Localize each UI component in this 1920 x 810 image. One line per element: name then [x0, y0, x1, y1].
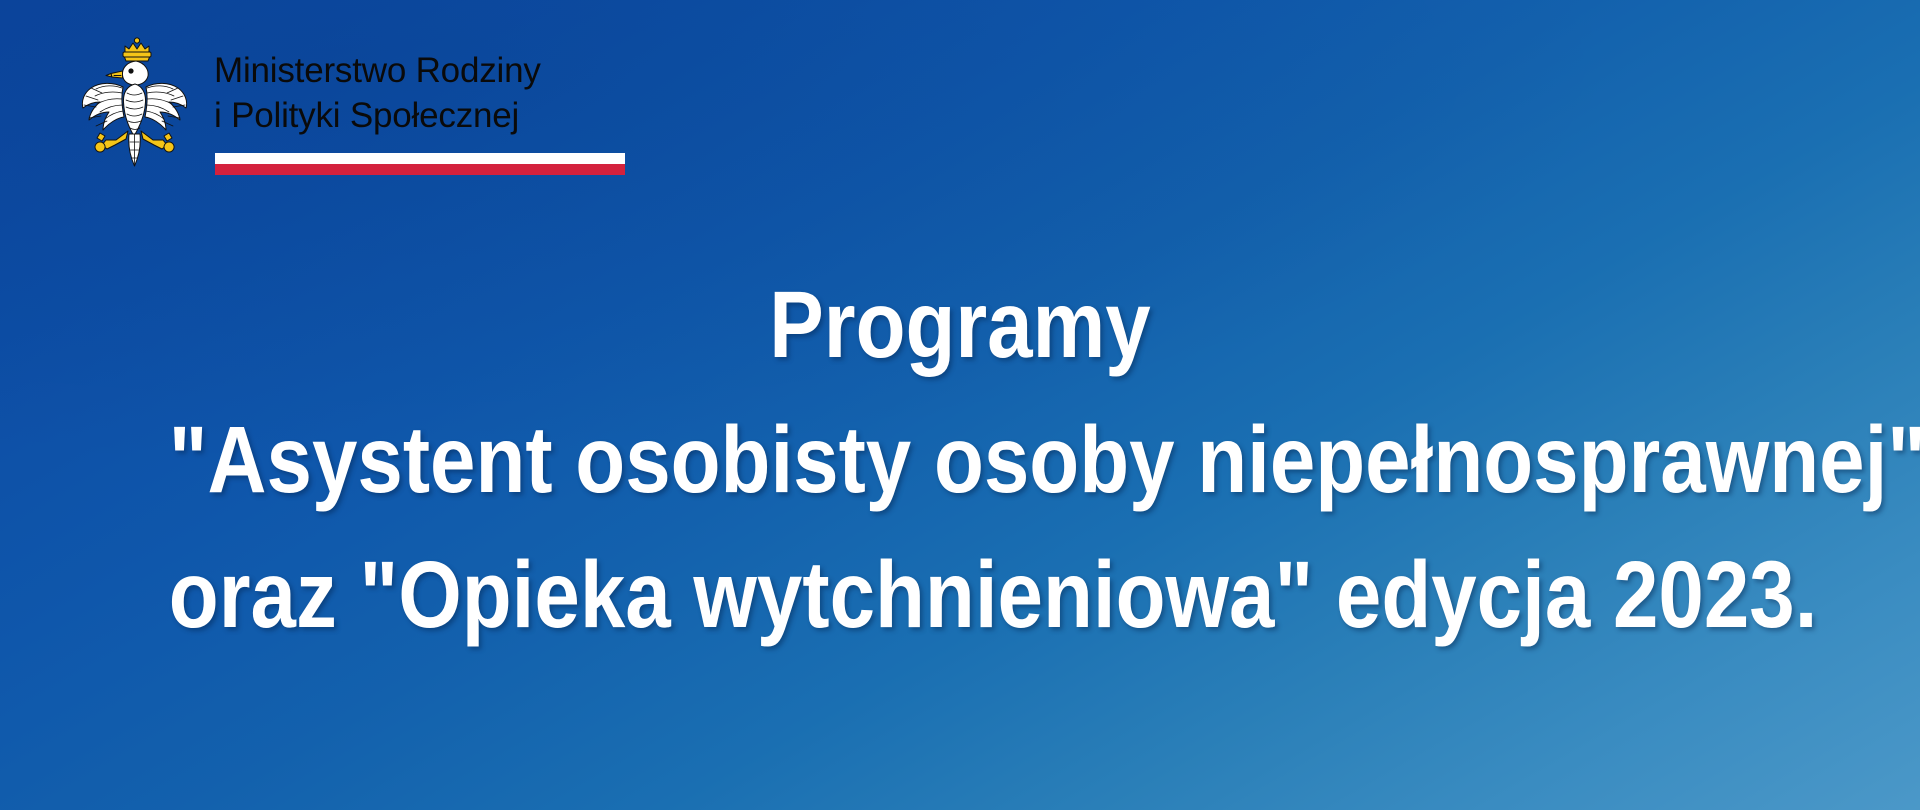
flag-stripe-red — [215, 164, 625, 175]
ministry-name-line-2: i Polityki Społecznej — [214, 93, 626, 138]
polish-flag-bar — [214, 152, 626, 176]
slide-canvas: Ministerstwo Rodziny i Polityki Społeczn… — [0, 0, 1920, 810]
flag-stripe-white — [215, 153, 625, 164]
title-line-2: "Asystent osobisty osoby niepełnosprawne… — [169, 393, 1751, 528]
polish-eagle-emblem-icon — [78, 30, 196, 170]
slide-title: Programy "Asystent osobisty osoby niepeł… — [0, 258, 1920, 663]
title-line-3: oraz "Opieka wytchnieniowa" edycja 2023. — [169, 528, 1751, 663]
ministry-logo-lockup: Ministerstwo Rodziny i Polityki Społeczn… — [78, 30, 626, 176]
title-line-1: Programy — [169, 258, 1751, 393]
ministry-logo-text: Ministerstwo Rodziny i Polityki Społeczn… — [214, 48, 626, 176]
ministry-name-line-1: Ministerstwo Rodziny — [214, 48, 626, 93]
